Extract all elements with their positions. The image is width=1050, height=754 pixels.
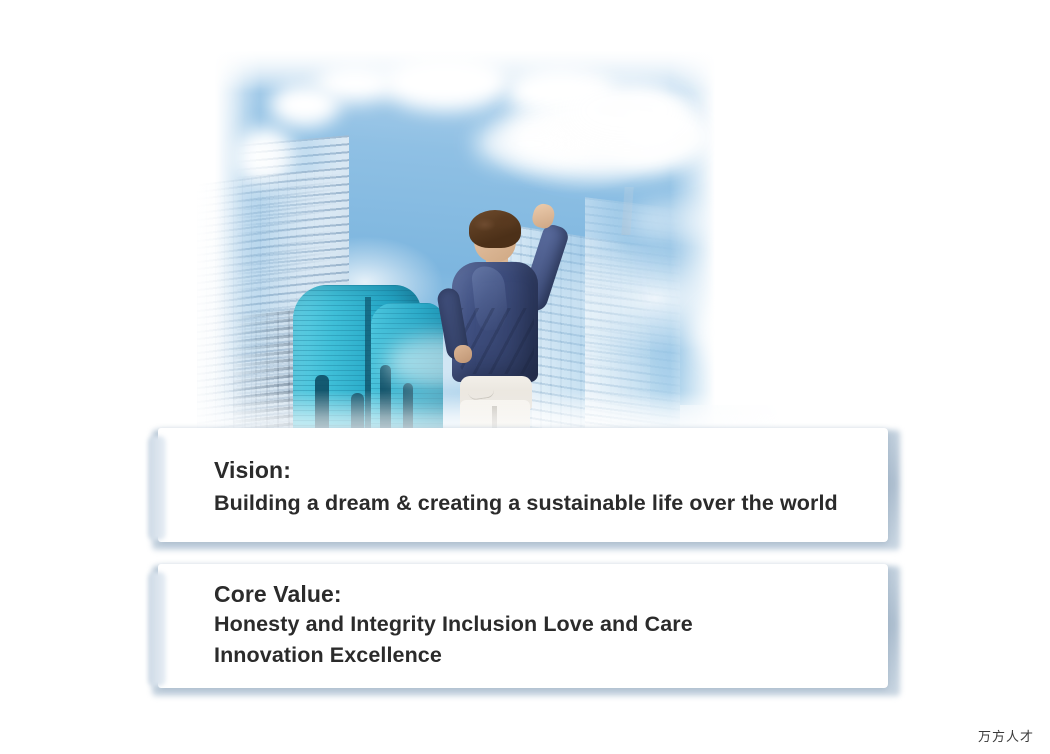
cloud — [630, 200, 720, 242]
core-value-line-1: Honesty and Integrity Inclusion Love and… — [214, 614, 693, 636]
vision-panel — [158, 428, 888, 542]
core-value-line-2: Innovation Excellence — [214, 645, 442, 667]
hair — [469, 210, 521, 248]
cloud-top — [475, 120, 585, 168]
vision-statement: Building a dream & creating a sustainabl… — [214, 493, 838, 515]
hero-image — [175, 35, 875, 450]
core-value-heading: Core Value: — [214, 583, 342, 606]
blazer-folds — [460, 308, 534, 374]
photo-fade-right — [765, 35, 875, 450]
watermark: 万方人才 — [978, 726, 1034, 745]
vision-heading: Vision: — [214, 459, 291, 482]
hand-on-hip — [454, 345, 472, 363]
core-value-panel-left-edge — [148, 572, 166, 686]
photo-fade-left — [175, 35, 245, 450]
vision-panel-left-edge — [148, 436, 166, 540]
